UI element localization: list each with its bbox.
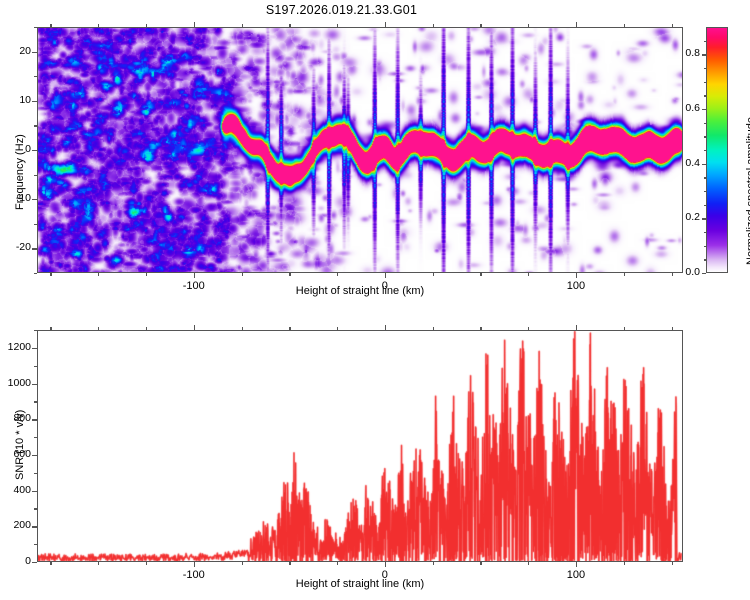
snr-ytick-label: 400 <box>1 484 31 496</box>
snr-y-axis-title: SNR (10 * v/v) <box>14 410 26 480</box>
spectrogram-xtick <box>624 273 625 276</box>
spectrogram-ytick-label: 20 <box>1 45 31 57</box>
spectrogram-xtick <box>385 273 386 278</box>
spectrogram-xtick <box>289 273 290 276</box>
spectrogram-xtick-top <box>146 24 147 27</box>
snr-xtick <box>672 562 673 565</box>
snr-canvas <box>38 331 683 562</box>
spectrogram-ytick-label: 10 <box>1 94 31 106</box>
colorbar-tick-label: 0.4 <box>672 157 700 169</box>
spectrogram-x-axis-title: Height of straight line (km) <box>230 285 490 297</box>
snr-xtick-top <box>242 327 243 330</box>
spectrogram-ytick-minor <box>34 175 37 176</box>
snr-xtick <box>146 562 147 565</box>
snr-xtick <box>194 562 195 567</box>
spectrogram-xtick <box>146 273 147 276</box>
spectrogram-xtick <box>98 273 99 276</box>
snr-ytick-label: 1000 <box>1 377 31 389</box>
spectrogram-ytick-minor <box>34 125 37 126</box>
spectrogram-xtick-top <box>576 22 577 27</box>
spectrogram-xtick-top <box>480 24 481 27</box>
snr-ytick-minor <box>34 544 37 545</box>
spectrogram-ytick <box>32 52 37 53</box>
snr-ytick-minor <box>34 401 37 402</box>
spectrogram-xtick <box>480 273 481 276</box>
snr-xtick-top <box>50 327 51 330</box>
snr-ytick-label: 1200 <box>1 341 31 353</box>
spectrogram-ytick-minor <box>34 76 37 77</box>
spectrogram-xtick-top <box>672 24 673 27</box>
snr-xtick <box>624 562 625 565</box>
colorbar-tick-minor <box>704 205 707 206</box>
colorbar-tick-minor <box>704 136 707 137</box>
spectrogram-canvas <box>38 28 683 273</box>
snr-xtick <box>98 562 99 565</box>
snr-ytick <box>32 491 37 492</box>
spectrogram-xtick <box>50 273 51 276</box>
snr-panel <box>37 330 683 562</box>
snr-ytick <box>32 562 37 563</box>
spectrogram-xtick <box>242 273 243 276</box>
colorbar-tick <box>702 54 706 55</box>
snr-xtick-top <box>194 325 195 330</box>
snr-ytick-minor <box>34 508 37 509</box>
snr-x-axis-title: Height of straight line (km) <box>230 578 490 590</box>
colorbar-tick-label: 0.0 <box>672 266 700 278</box>
colorbar-tick-minor <box>704 82 707 83</box>
snr-ytick <box>32 419 37 420</box>
colorbar-tick <box>702 218 706 219</box>
colorbar-tick-minor <box>704 95 707 96</box>
spectrogram-panel <box>37 27 683 273</box>
spectrogram-xtick-top <box>433 24 434 27</box>
snr-ytick-minor <box>34 366 37 367</box>
snr-xtick <box>576 562 577 567</box>
spectrogram-xtick <box>528 273 529 276</box>
snr-ytick <box>32 455 37 456</box>
spectrogram-ytick-minor <box>34 273 37 274</box>
spectrogram-xtick-top <box>385 22 386 27</box>
spectrogram-ytick <box>32 248 37 249</box>
spectrogram-ytick <box>32 199 37 200</box>
snr-xtick-top <box>337 327 338 330</box>
spectrogram-ytick <box>32 150 37 151</box>
spectrogram-xtick-top <box>624 24 625 27</box>
snr-xtick <box>433 562 434 565</box>
snr-ytick <box>32 526 37 527</box>
colorbar-tick-label: 0.2 <box>672 211 700 223</box>
colorbar-tick-minor <box>704 232 707 233</box>
spectrogram-xtick-label: 100 <box>546 280 606 292</box>
colorbar-tick-minor <box>704 123 707 124</box>
snr-ytick-label: 200 <box>1 519 31 531</box>
snr-xtick-label: 100 <box>546 569 606 581</box>
colorbar-tick <box>702 164 706 165</box>
snr-xtick <box>480 562 481 565</box>
spectrogram-xtick-top <box>194 22 195 27</box>
snr-xtick <box>289 562 290 565</box>
snr-xtick-top <box>98 327 99 330</box>
snr-xtick-top <box>385 325 386 330</box>
snr-xtick <box>385 562 386 567</box>
snr-xtick-top <box>146 327 147 330</box>
spectrogram-xtick-label: -100 <box>164 280 224 292</box>
snr-ytick-minor <box>34 437 37 438</box>
snr-xtick-label: -100 <box>164 569 224 581</box>
colorbar-tick-minor <box>704 150 707 151</box>
snr-xtick-top <box>576 325 577 330</box>
snr-ytick-minor <box>34 330 37 331</box>
colorbar-tick-label: 0.8 <box>672 47 700 59</box>
spectrogram-xtick <box>576 273 577 278</box>
spectrogram-xtick-top <box>528 24 529 27</box>
colorbar-tick-label: 0.6 <box>672 102 700 114</box>
spectrogram-xtick <box>433 273 434 276</box>
spectrogram-xtick <box>194 273 195 278</box>
spectrogram-xtick-top <box>289 24 290 27</box>
spectrogram-xtick-top <box>98 24 99 27</box>
spectrogram-ytick <box>32 101 37 102</box>
snr-xtick <box>528 562 529 565</box>
snr-xtick-top <box>433 327 434 330</box>
spectrogram-xtick <box>337 273 338 276</box>
snr-xtick <box>50 562 51 565</box>
snr-ytick-minor <box>34 473 37 474</box>
colorbar-title: Normalized spectral amplitude <box>745 117 750 265</box>
spectrogram-ytick-label: -20 <box>1 241 31 253</box>
colorbar-tick-minor <box>704 191 707 192</box>
snr-xtick <box>337 562 338 565</box>
colorbar-tick-minor <box>704 177 707 178</box>
snr-xtick-top <box>672 327 673 330</box>
colorbar-tick-minor <box>704 41 707 42</box>
snr-ytick-label: 0 <box>1 555 31 567</box>
colorbar-tick <box>702 273 706 274</box>
colorbar-tick-minor <box>704 259 707 260</box>
figure-root: S197.2026.019.21.33.G01 -20-1001020-1000… <box>0 0 750 600</box>
spectrogram-xtick-top <box>242 24 243 27</box>
snr-ytick <box>32 348 37 349</box>
snr-xtick <box>242 562 243 565</box>
spectrogram-xtick-top <box>50 24 51 27</box>
snr-xtick-top <box>289 327 290 330</box>
snr-ytick <box>32 384 37 385</box>
colorbar <box>706 27 728 273</box>
colorbar-tick <box>702 109 706 110</box>
spectrogram-xtick-top <box>337 24 338 27</box>
spectrogram-ytick-minor <box>34 27 37 28</box>
snr-xtick-top <box>624 327 625 330</box>
figure-title: S197.2026.019.21.33.G01 <box>0 3 683 17</box>
colorbar-tick-minor <box>704 68 707 69</box>
spectrogram-y-axis-title: Frequency (Hz) <box>14 134 26 210</box>
colorbar-tick-minor <box>704 246 707 247</box>
snr-xtick-top <box>528 327 529 330</box>
snr-xtick-top <box>480 327 481 330</box>
spectrogram-ytick-minor <box>34 224 37 225</box>
